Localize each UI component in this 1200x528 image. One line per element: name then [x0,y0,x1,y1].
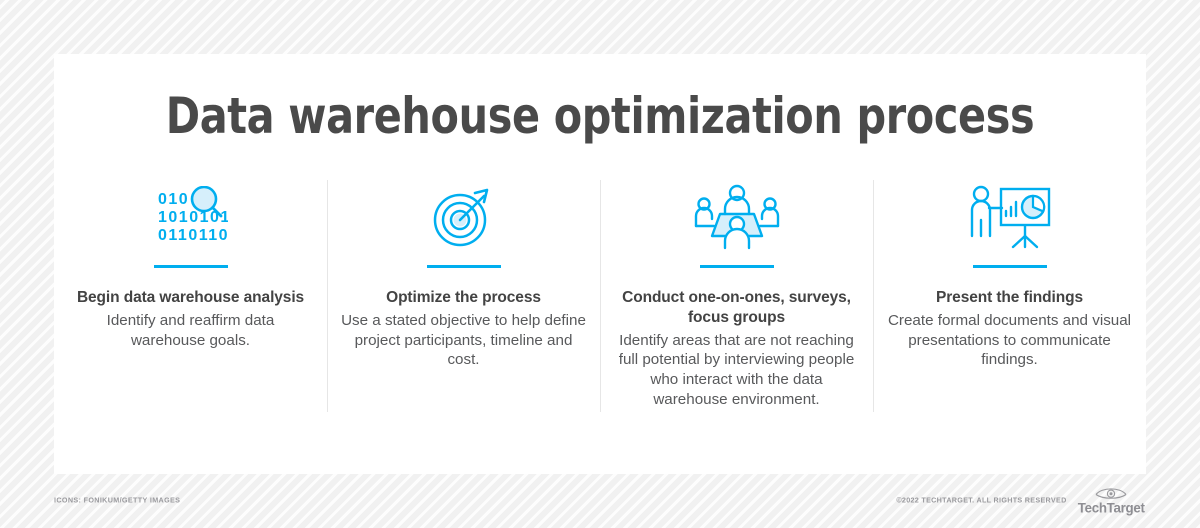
binary-magnifier-icon: 010 1010101 0110110 [68,180,313,254]
svg-text:0110110: 0110110 [158,227,228,244]
meeting-group-icon [614,180,859,254]
techtarget-logo: TechTarget [1076,486,1146,515]
accent-rule [700,265,774,268]
target-arrow-icon [341,180,586,254]
footer-right: ©2022 TECHTARGET. ALL RIGHTS RESERVED Te… [896,486,1146,515]
copyright-text: ©2022 TECHTARGET. ALL RIGHTS RESERVED [896,496,1066,505]
accent-rule [427,265,501,268]
techtarget-wordmark: TechTarget [1077,501,1144,515]
step-body: Create formal documents and visual prese… [887,311,1132,370]
step-column-1: 010 1010101 0110110 Begin data warehouse… [54,180,327,350]
step-body: Use a stated objective to help define pr… [341,311,586,370]
page-title: Data warehouse optimization process [98,87,1103,145]
svg-text:010: 010 [158,191,189,208]
accent-rule [973,265,1047,268]
step-heading: Optimize the process [341,288,586,308]
step-body: Identify areas that are not reaching ful… [614,331,859,410]
step-heading: Begin data warehouse analysis [68,288,313,308]
step-heading: Present the findings [887,288,1132,308]
presentation-chart-icon [887,180,1132,254]
step-heading: Conduct one-on-ones, surveys, focus grou… [614,288,859,328]
content-card: Data warehouse optimization process 010 … [54,54,1146,474]
infographic-root: Data warehouse optimization process 010 … [0,0,1200,528]
process-steps: 010 1010101 0110110 Begin data warehouse… [54,180,1146,410]
step-column-2: Optimize the process Use a stated object… [327,180,600,370]
eye-icon [1094,486,1128,500]
step-column-3: Conduct one-on-ones, surveys, focus grou… [600,180,873,410]
step-column-4: Present the findings Create formal docum… [873,180,1146,370]
step-body: Identify and reaffirm data warehouse goa… [68,311,313,351]
icon-credit: ICONS: FONIKUM/GETTY IMAGES [54,496,180,505]
accent-rule [154,265,228,268]
